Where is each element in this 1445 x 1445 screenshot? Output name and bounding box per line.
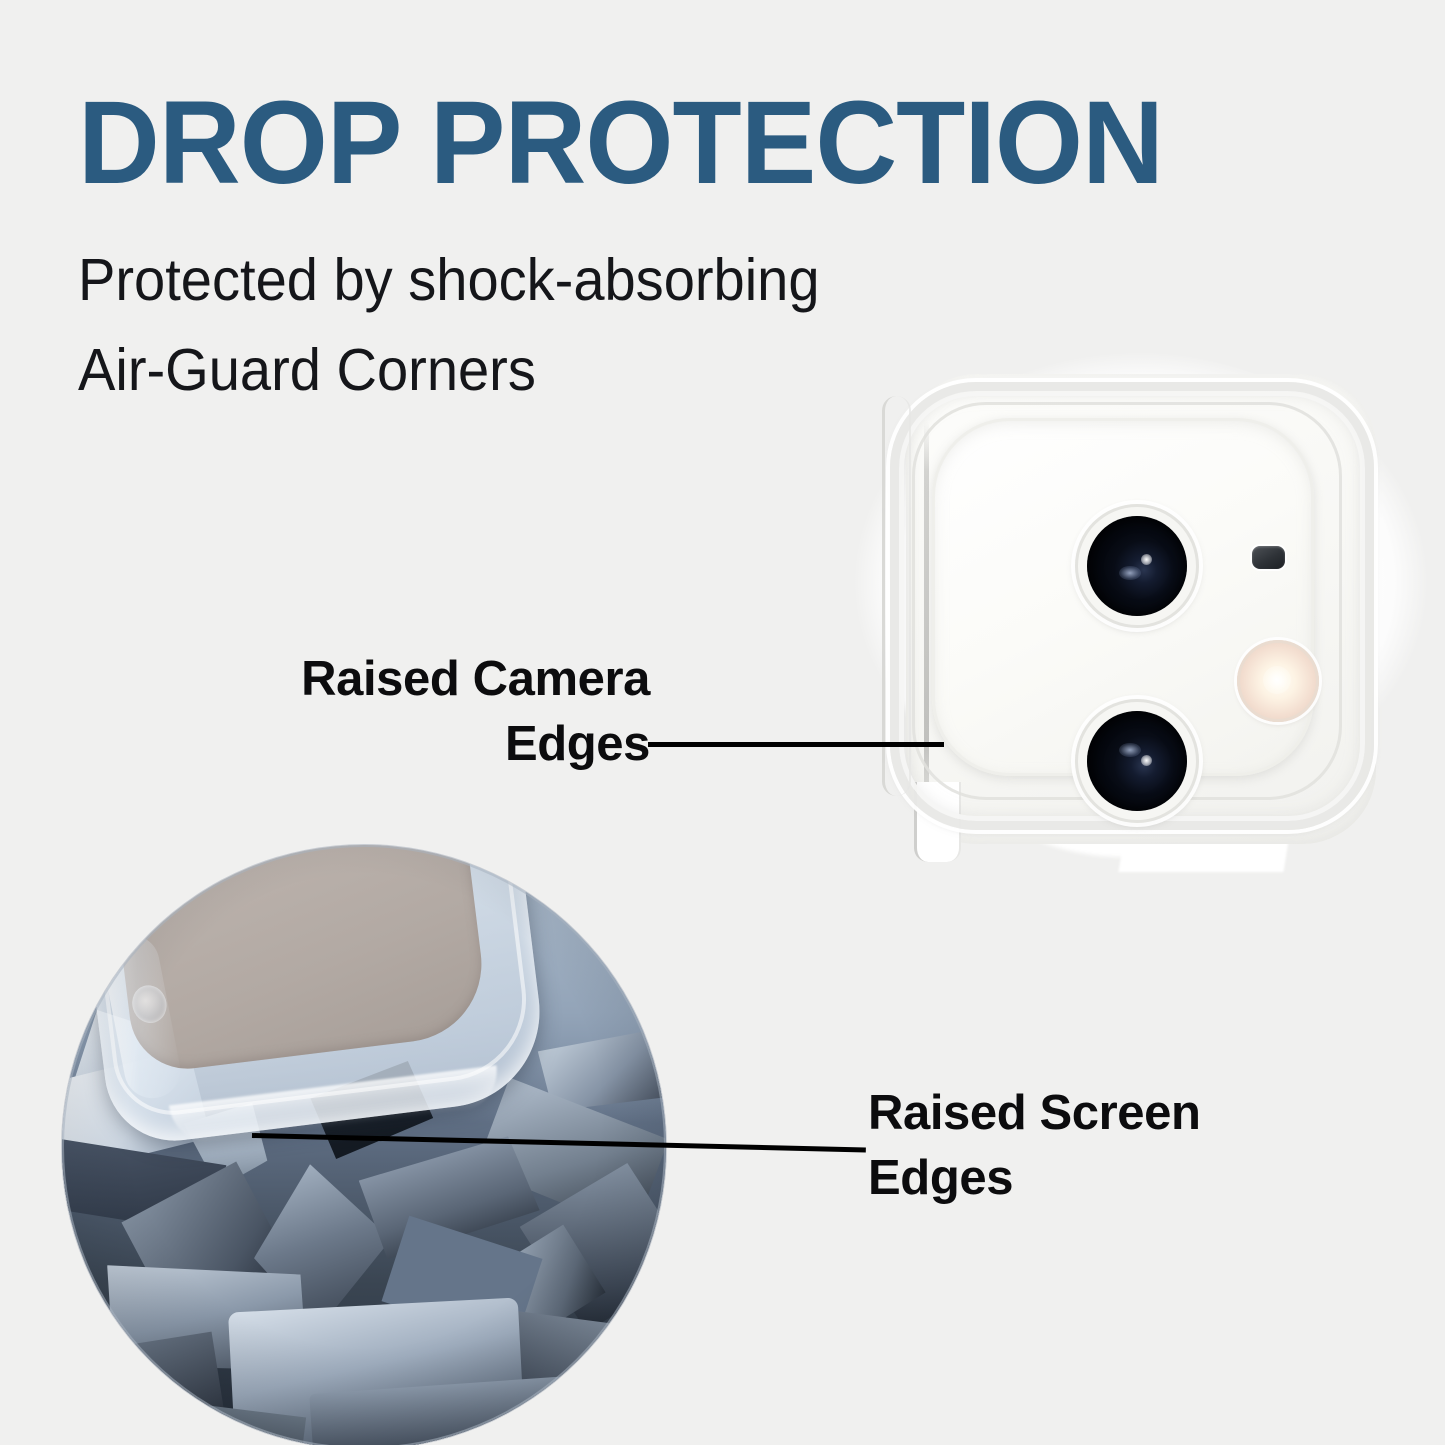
callout-raised-camera-edges: Raised Camera Edges bbox=[150, 647, 650, 776]
lens-highlight-icon bbox=[1141, 755, 1152, 766]
microphone-sensor-icon bbox=[1252, 546, 1285, 569]
lens-highlight-icon bbox=[1141, 554, 1152, 565]
camera-bump-plate bbox=[932, 418, 1314, 776]
callout-screen-line-1: Raised Screen bbox=[868, 1081, 1338, 1146]
camera-leader-line bbox=[648, 742, 944, 747]
callout-camera-line-2: Edges bbox=[150, 712, 650, 777]
callout-camera-line-1: Raised Camera bbox=[150, 647, 650, 712]
lens-flare-icon bbox=[1119, 743, 1141, 757]
subtitle: Protected by shock-absorbing Air-Guard C… bbox=[78, 236, 933, 415]
camera-flash-icon bbox=[1237, 640, 1319, 722]
camera-lens-bottom-icon bbox=[1075, 699, 1199, 823]
callout-raised-screen-edges: Raised Screen Edges bbox=[868, 1081, 1338, 1210]
phone-corner-in-case bbox=[74, 845, 551, 1149]
subtitle-line-2: Air-Guard Corners bbox=[78, 326, 933, 416]
camera-photo bbox=[828, 352, 1445, 884]
page-title: DROP PROTECTION bbox=[78, 84, 1163, 202]
callout-screen-line-2: Edges bbox=[868, 1146, 1338, 1211]
subtitle-line-1: Protected by shock-absorbing bbox=[78, 236, 933, 326]
clear-case-side-rail bbox=[882, 396, 911, 796]
lens-flare-icon bbox=[1119, 566, 1141, 580]
drop-protection-infographic: DROP PROTECTION Protected by shock-absor… bbox=[0, 0, 1445, 1445]
camera-lens-top-icon bbox=[1075, 504, 1199, 628]
phone-screen-reflection bbox=[164, 845, 262, 869]
